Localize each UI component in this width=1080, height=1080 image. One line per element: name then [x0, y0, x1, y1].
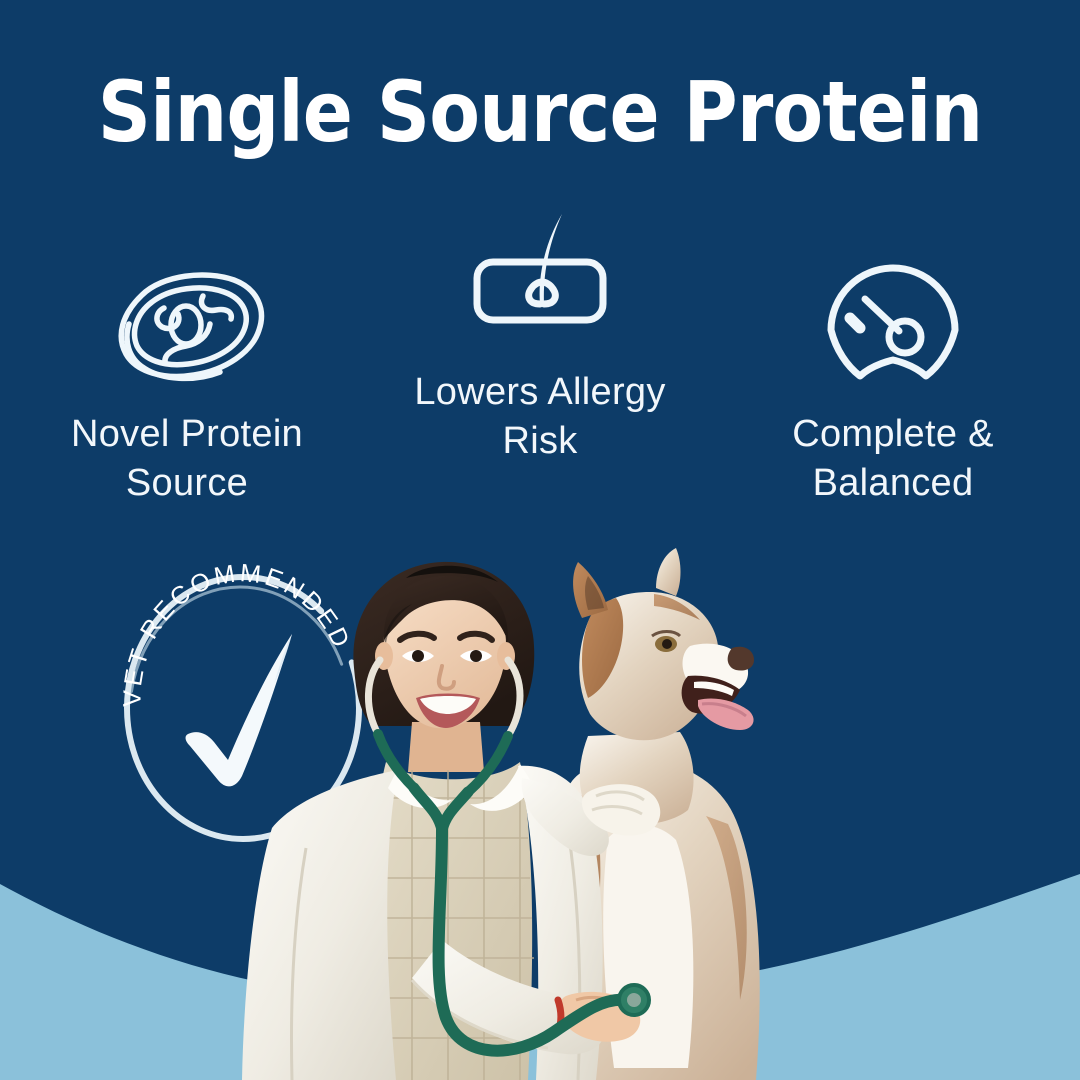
feature-row: Novel Protein Source Lowers Allerg [0, 238, 1080, 507]
feature-novel-protein-source: Novel Protein Source [22, 252, 352, 507]
feature-label: Novel Protein Source [71, 410, 303, 507]
promo-graphic: Single Source Protein [0, 0, 1080, 1080]
vet-with-dog-photo [236, 548, 836, 1080]
feature-label: Lowers Allergy Risk [414, 368, 665, 465]
steak-icon [102, 252, 272, 392]
feature-lowers-allergy-risk: Lowers Allergy Risk [375, 210, 705, 465]
page-title: Single Source Protein [65, 70, 1015, 154]
hair-follicle-icon [455, 210, 625, 350]
gauge-icon [813, 252, 973, 392]
feature-label: Complete & Balanced [792, 410, 994, 507]
feature-complete-and-balanced: Complete & Balanced [728, 252, 1058, 507]
